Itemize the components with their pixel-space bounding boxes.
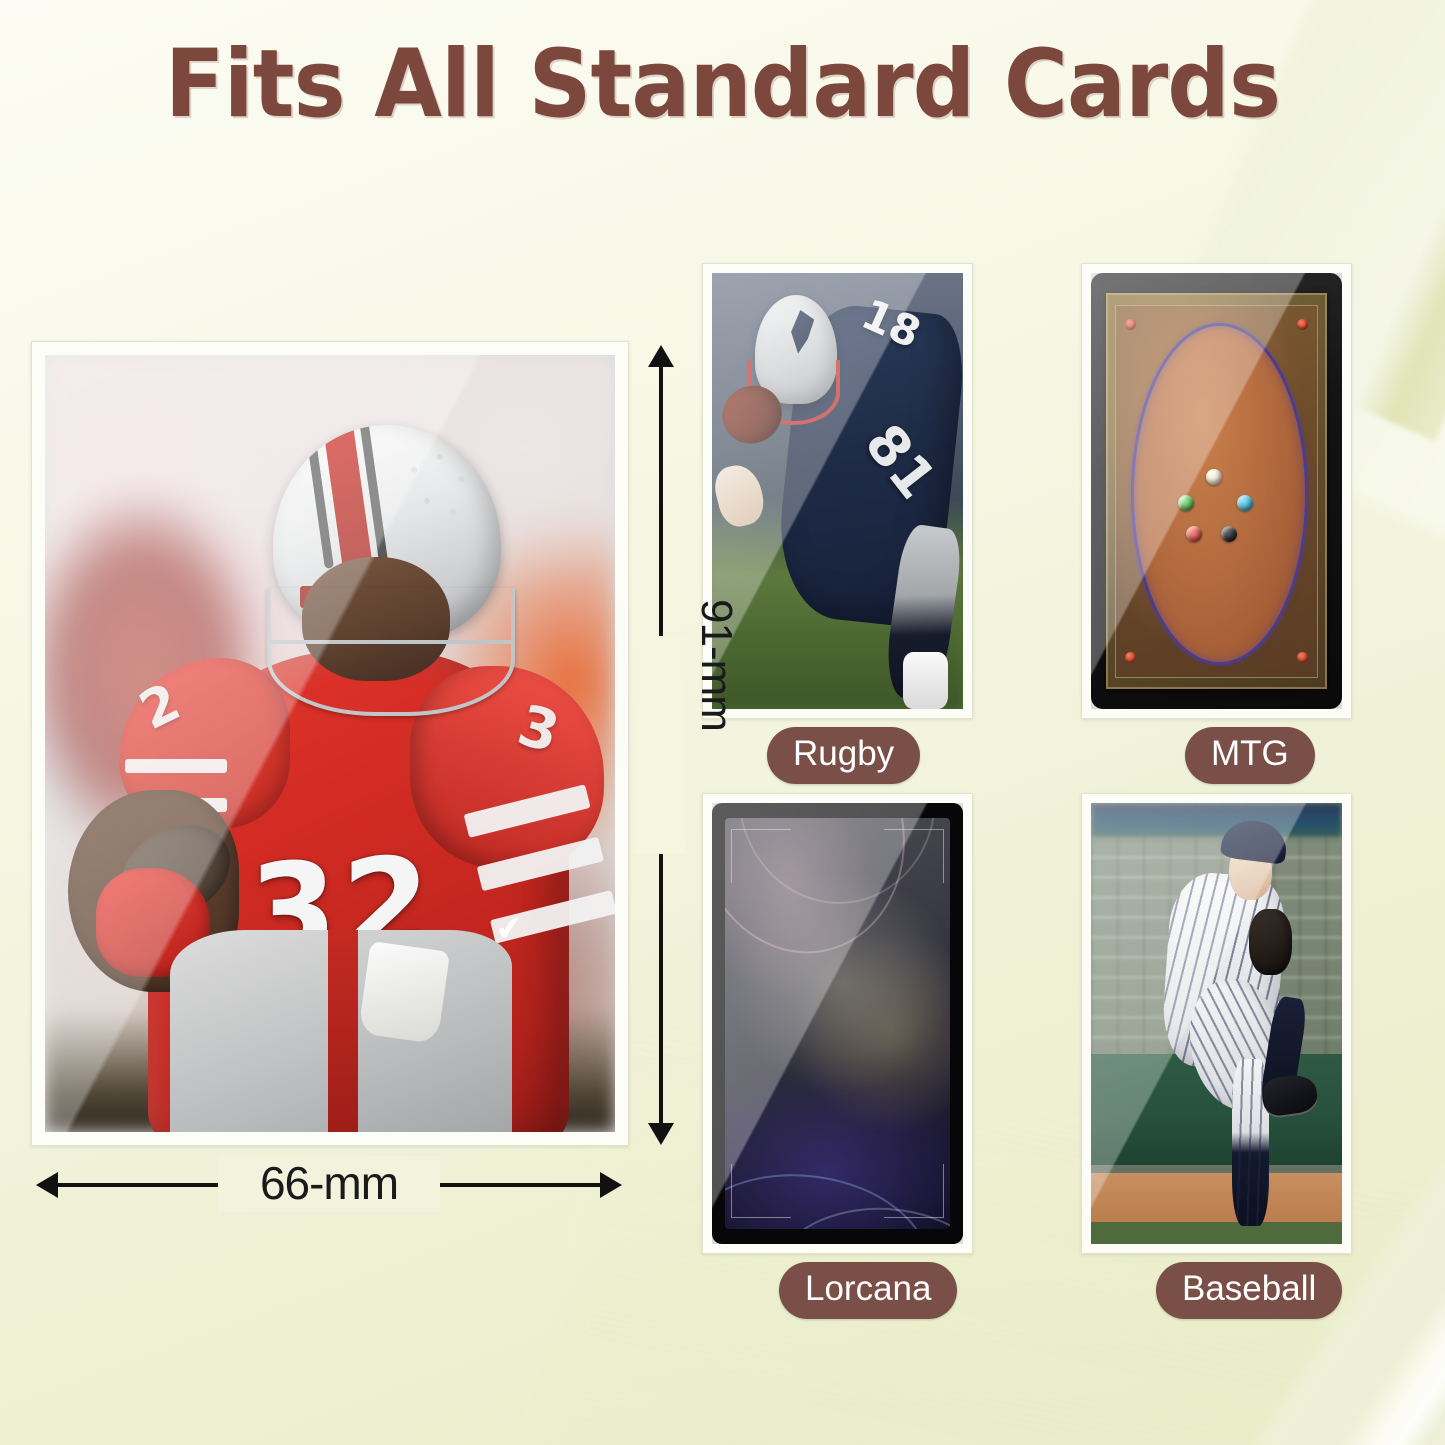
infographic-canvas: Fits All Standard Cards 2 3 — [0, 0, 1445, 1445]
mana-orb-white — [1206, 469, 1222, 485]
mtg-black-border — [1091, 273, 1342, 709]
mana-orb-red — [1186, 526, 1202, 542]
infield-grass — [1091, 1222, 1342, 1244]
mtg-corner-gem-bottom-left — [1125, 652, 1136, 663]
hero-card-artwork: 2 3 B1G 32 ✔ — [45, 355, 615, 1132]
stadium-upper-deck — [1091, 803, 1342, 838]
pitcher-glove — [1249, 909, 1292, 975]
card-label-lorcana: Lorcana — [779, 1262, 957, 1319]
lorcana-corner-ornament-bottom-right — [884, 1164, 944, 1218]
card-artwork-baseball — [1091, 803, 1342, 1244]
card-label-mtg: MTG — [1185, 727, 1315, 784]
page-title: Fits All Standard Cards — [51, 38, 1395, 132]
card-label-baseball: Baseball — [1156, 1262, 1342, 1319]
card-artwork-lorcana — [712, 803, 963, 1244]
card-sleeve-baseball — [1081, 793, 1352, 1254]
card-artwork-rugby: 18 81 — [712, 273, 963, 709]
card-sleeve-mtg — [1081, 263, 1352, 719]
card-label-rugby: Rugby — [767, 727, 920, 784]
mtg-corner-gem-top-left — [1125, 319, 1136, 330]
mana-orb-blue — [1237, 495, 1253, 511]
dimension-label-gap-vertical — [634, 636, 686, 854]
mtg-ornate-frame — [1106, 293, 1327, 690]
dimension-label-width: 66-mm — [36, 1156, 622, 1210]
mtg-corner-gem-top-right — [1297, 319, 1308, 330]
card-artwork-mtg — [1091, 273, 1342, 709]
mtg-mana-symbols — [1168, 469, 1270, 551]
lorcana-art-panel — [725, 818, 951, 1228]
hero-card-sleeve: 2 3 B1G 32 ✔ — [31, 341, 629, 1146]
dimension-label-height: 91-mm — [691, 565, 741, 765]
helmet-facemask — [267, 588, 514, 716]
receiver-sock — [903, 652, 948, 709]
mana-orb-green — [1178, 495, 1194, 511]
brand-swoosh-icon: ✔ — [494, 910, 526, 947]
lorcana-corner-ornament-bottom-left — [731, 1164, 791, 1218]
player-pants — [170, 930, 512, 1132]
arrowhead-down-icon — [648, 1123, 674, 1145]
card-sleeve-rugby: 18 81 — [702, 263, 973, 719]
mtg-corner-gem-bottom-right — [1297, 652, 1308, 663]
dimension-arrow-width: 66-mm — [36, 1172, 622, 1198]
infield-dirt — [1091, 1173, 1342, 1226]
lorcana-black-border — [712, 803, 963, 1244]
mtg-inner-panel — [1115, 305, 1318, 678]
mana-orb-black — [1221, 526, 1237, 542]
helmet-decal-stickers — [396, 442, 487, 533]
dimension-arrow-height — [648, 345, 674, 1145]
lorcana-corner-ornament-top-right — [884, 829, 944, 883]
lorcana-corner-ornament-top-left — [731, 829, 791, 883]
card-sleeve-lorcana — [702, 793, 973, 1254]
player-towel — [358, 940, 450, 1043]
